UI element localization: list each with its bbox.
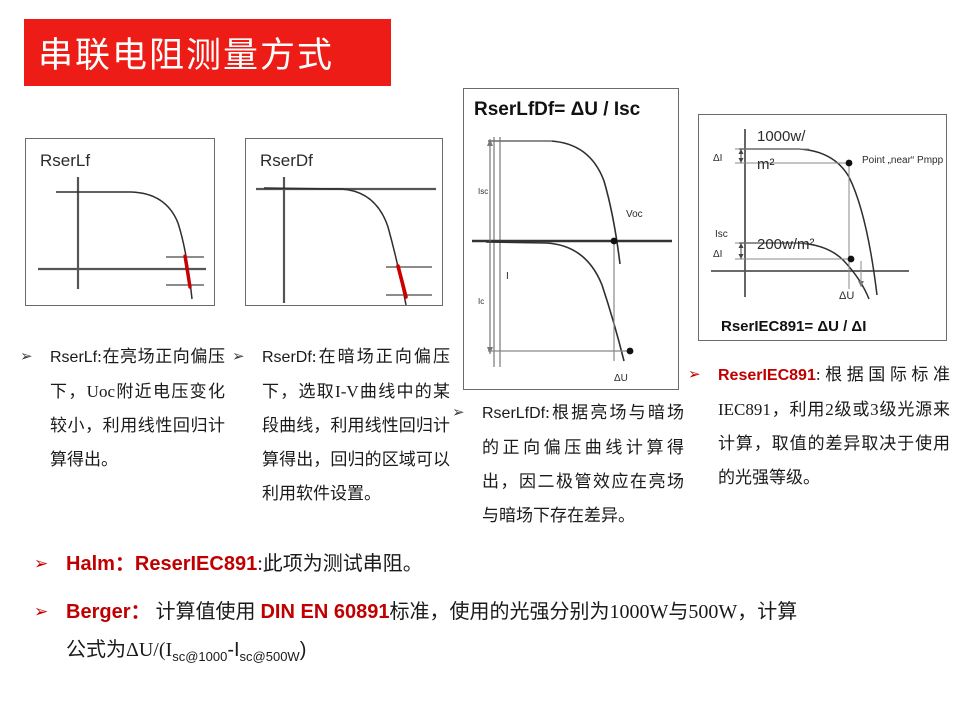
- formula-mid: -I: [227, 639, 239, 661]
- slide-root: 串联电阻测量方式 RserLf RserDf: [0, 0, 960, 720]
- figure-rseriec891-caption: RserIEC891= ΔU / ΔI: [721, 318, 866, 335]
- bullet-block-rserdf: ➢ RserDf:在暗场正向偏压下，选取I-V曲线中的某段曲线，利用线性回归计算…: [232, 340, 450, 511]
- formula-sub-1: sc@1000: [172, 649, 227, 664]
- figure-rseriec891-label-du: ΔU: [839, 290, 854, 302]
- berger-formula: 公式为ΔU/(Isc@1000-Isc@500W): [66, 639, 306, 661]
- bullet-block-reseriec891: ➢ ReserIEC891:根据国际标准IEC891，利用2级或3级光源来计算，…: [688, 358, 950, 495]
- bullet-lead-rserdf: RserDf: [262, 349, 312, 366]
- berger-label: Berger：: [66, 601, 150, 623]
- bullet-lead-rserlfdf: RserLfDf: [482, 405, 545, 422]
- figure-rserlfdf-label-ic: Ic: [478, 297, 484, 306]
- bottom-bullet-berger-text: Berger： 计算值使用 DIN EN 60891标准，使用的光强分别为100…: [34, 593, 934, 676]
- figure-rseriec891-label-di-bottom: ΔI: [713, 249, 722, 260]
- figure-rserdf: RserDf: [245, 138, 443, 306]
- berger-desc-1: 计算值使用: [150, 601, 260, 623]
- figure-rserlfdf-label-i: I: [506, 271, 509, 282]
- figure-rseriec891-label-di-top: ΔI: [713, 153, 722, 164]
- bullet-text-reseriec891: ReserIEC891:根据国际标准IEC891，利用2级或3级光源来计算，取值…: [688, 358, 950, 495]
- slide-title-banner: 串联电阻测量方式: [24, 19, 391, 86]
- figure-rserlf: RserLf: [25, 138, 215, 306]
- bullet-text-rserlf: RserLf:在亮场正向偏压下，Uoc附近电压变化较小，利用线性回归计算得出。: [20, 340, 225, 477]
- bullet-arrow-icon: ➢: [20, 340, 33, 374]
- bottom-bullet-halm-text: Halm：ReserIEC891:此项为测试串阻。: [34, 545, 934, 583]
- figure-rseriec891-label-m2: m²: [757, 156, 775, 173]
- halm-label: Halm：: [66, 553, 135, 575]
- bottom-bullet-berger: ➢ Berger： 计算值使用 DIN EN 60891标准，使用的光强分别为1…: [34, 593, 934, 676]
- figure-rseriec891: 1000w/ m² 200w/m² ΔI ΔI Isc ΔU Point „ne…: [698, 114, 947, 341]
- page-title: 串联电阻测量方式: [24, 27, 334, 78]
- bullet-arrow-icon: ➢: [452, 396, 465, 430]
- figure-rseriec891-label-200w: 200w/m²: [757, 236, 815, 253]
- berger-standard: DIN EN 60891: [260, 601, 389, 623]
- figure-rserlfdf-label-du: ΔU: [614, 373, 628, 384]
- bullet-arrow-icon: ➢: [34, 593, 48, 631]
- bullet-lead-reseriec891: ReserIEC891: [718, 367, 816, 384]
- berger-desc-2: 标准，使用的光强分别为1000W与500W，计算: [389, 601, 797, 623]
- halm-desc: :此项为测试串阻。: [257, 553, 423, 575]
- halm-metric: ReserIEC891: [135, 553, 257, 575]
- bullet-text-rserdf: RserDf:在暗场正向偏压下，选取I-V曲线中的某段曲线，利用线性回归计算得出…: [232, 340, 450, 511]
- figure-rseriec891-label-isc: Isc: [715, 229, 728, 240]
- figure-rserlfdf-caption: RserLfDf= ΔU / Isc: [474, 99, 641, 120]
- bullet-arrow-icon: ➢: [34, 545, 48, 583]
- bullet-arrow-icon: ➢: [232, 340, 245, 374]
- figure-rserdf-caption: RserDf: [260, 151, 313, 170]
- figure-rseriec891-label-1000w: 1000w/: [757, 128, 806, 145]
- bullet-block-rserlfdf: ➢ RserLfDf:根据亮场与暗场的正向偏压曲线计算得出，因二极管效应在亮场与…: [452, 396, 684, 533]
- figure-rserlfdf: RserLfDf= ΔU / Isc Voc ΔU: [463, 88, 679, 390]
- formula-prefix: 公式为ΔU/(I: [66, 639, 172, 661]
- bullet-arrow-icon: ➢: [688, 358, 701, 392]
- figure-rserlfdf-label-isc: Isc: [478, 187, 488, 196]
- formula-suffix: ): [300, 639, 307, 661]
- formula-sub-2: sc@500W: [240, 649, 300, 664]
- bullet-lead-rserlf: RserLf: [50, 349, 97, 366]
- bullet-block-rserlf: ➢ RserLf:在亮场正向偏压下，Uoc附近电压变化较小，利用线性回归计算得出…: [20, 340, 225, 477]
- bottom-bullet-halm: ➢ Halm：ReserIEC891:此项为测试串阻。: [34, 545, 934, 583]
- figure-rserlf-caption: RserLf: [40, 151, 90, 170]
- figure-rseriec891-label-pmpp: Point „near“ Pmpp: [862, 155, 944, 166]
- bullet-text-rserlfdf: RserLfDf:根据亮场与暗场的正向偏压曲线计算得出，因二极管效应在亮场与暗场…: [452, 396, 684, 533]
- figure-rserlfdf-label-voc: Voc: [626, 209, 643, 220]
- bullet-body-rserdf: :在暗场正向偏压下，选取I-V曲线中的某段曲线，利用线性回归计算得出，回归的区域…: [262, 347, 450, 503]
